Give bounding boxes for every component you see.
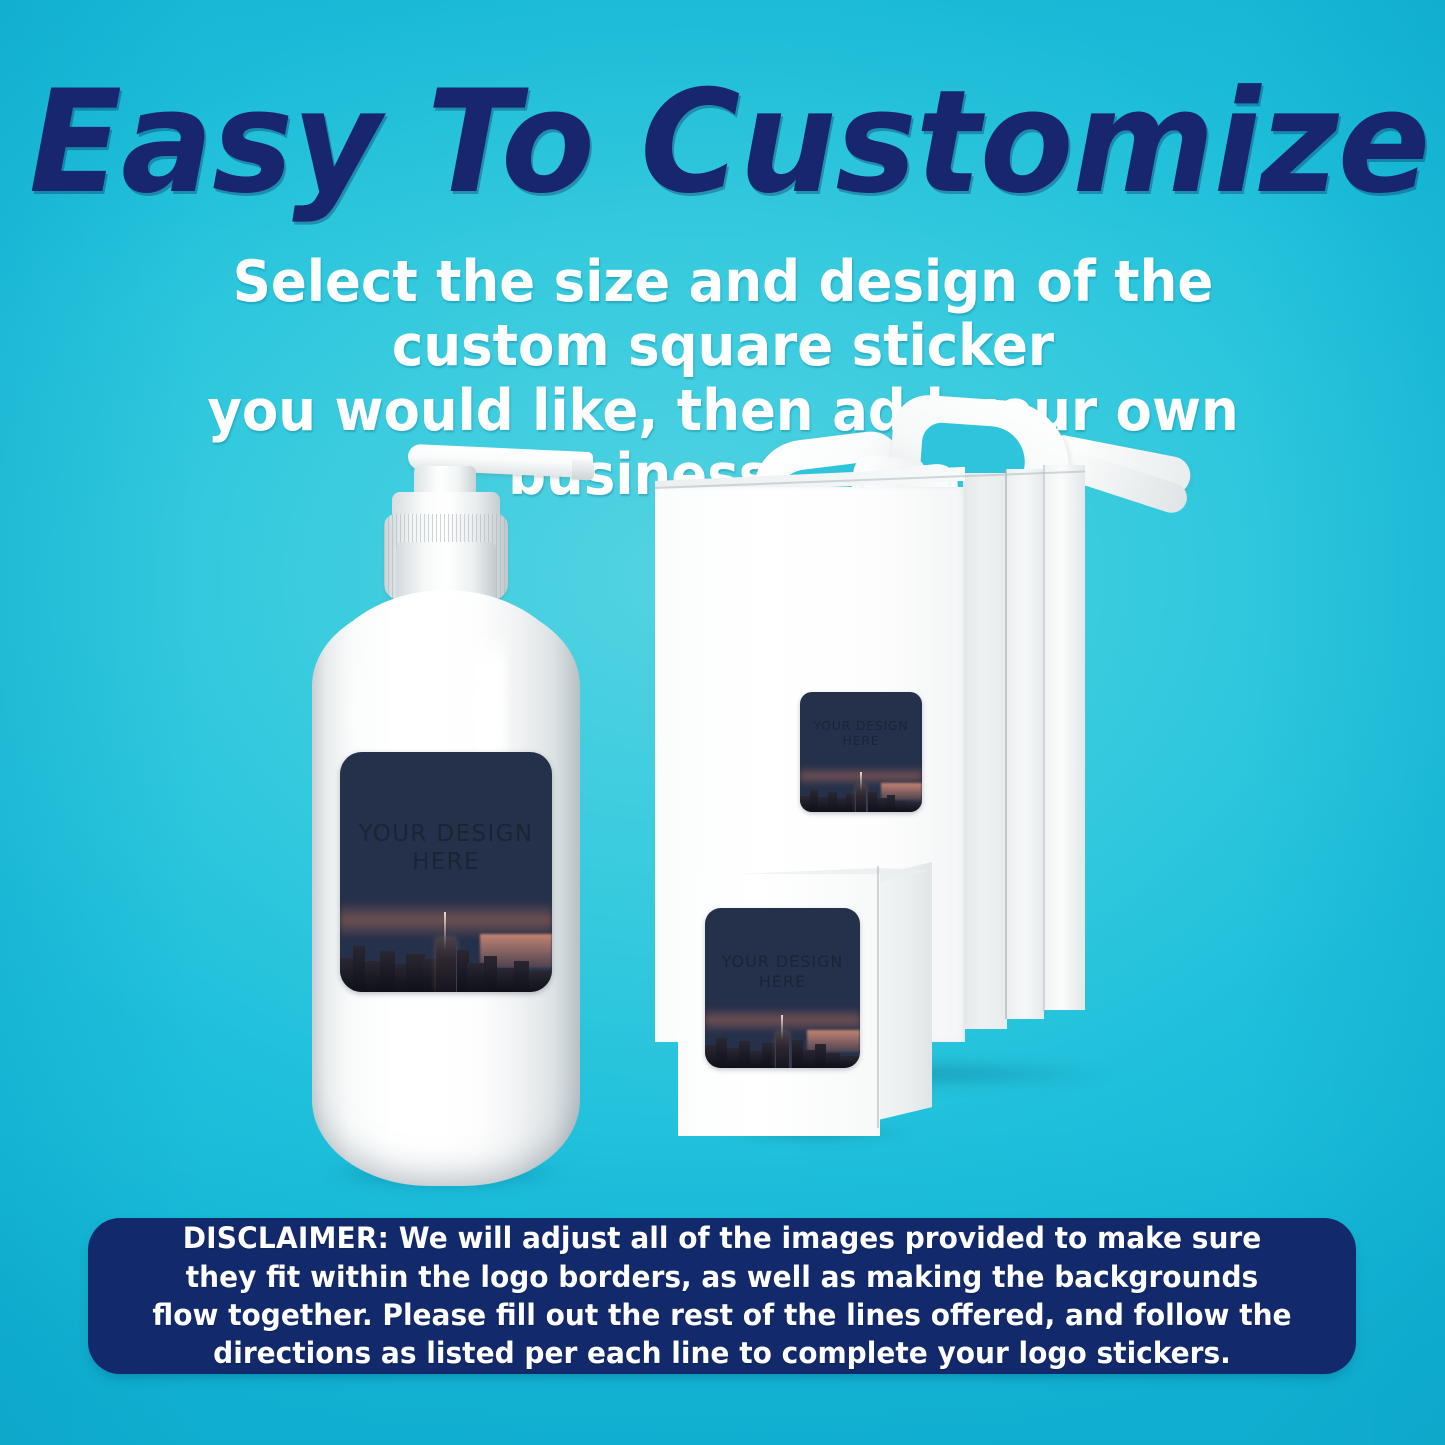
product-cube-box: YOUR DESIGN HERE	[678, 862, 960, 1140]
product-pump-bottle: YOUR DESIGN HERE	[296, 430, 596, 1190]
page-headline: Easy To Customize	[29, 72, 1416, 214]
sticker-on-bottle: YOUR DESIGN HERE	[340, 752, 552, 992]
sticker-skyline	[340, 910, 552, 992]
disclaimer-panel: DISCLAIMER: We will adjust all of the im…	[88, 1218, 1356, 1374]
giftbox-side-panel-2	[1006, 469, 1044, 1019]
giftbox-side-panel-3	[1043, 465, 1085, 1010]
sticker-line-1: YOUR DESIGN	[359, 821, 534, 847]
sticker-on-gift-box: YOUR DESIGN HERE	[800, 692, 922, 812]
giftbox-side-panel-1	[963, 473, 1007, 1029]
sticker-line-2: HERE	[759, 972, 806, 991]
giftbox-seam-1	[1005, 469, 1007, 1019]
bottle-pump-nozzle-tip	[572, 459, 594, 480]
cubebox-edge	[877, 866, 879, 1128]
disclaimer-text: DISCLAIMER: We will adjust all of the im…	[152, 1219, 1292, 1372]
sticker-text: YOUR DESIGN HERE	[340, 820, 552, 876]
subtitle-line-1: Select the size and design of the custom…	[123, 250, 1323, 379]
sticker-line-2: HERE	[843, 733, 880, 748]
cubebox-side-face	[878, 862, 932, 1120]
sticker-skyline	[705, 1014, 860, 1068]
sticker-line-2: HERE	[412, 849, 480, 875]
sticker-line-1: YOUR DESIGN	[813, 718, 908, 733]
sticker-text: YOUR DESIGN HERE	[800, 718, 922, 749]
sticker-skyline	[800, 771, 922, 812]
giftbox-seam-2	[1043, 465, 1045, 1011]
sticker-text: YOUR DESIGN HERE	[705, 952, 860, 991]
sticker-on-cube-box: YOUR DESIGN HERE	[705, 908, 860, 1068]
disclaimer-lead: DISCLAIMER:	[183, 1221, 389, 1255]
sticker-line-1: YOUR DESIGN	[722, 952, 844, 971]
